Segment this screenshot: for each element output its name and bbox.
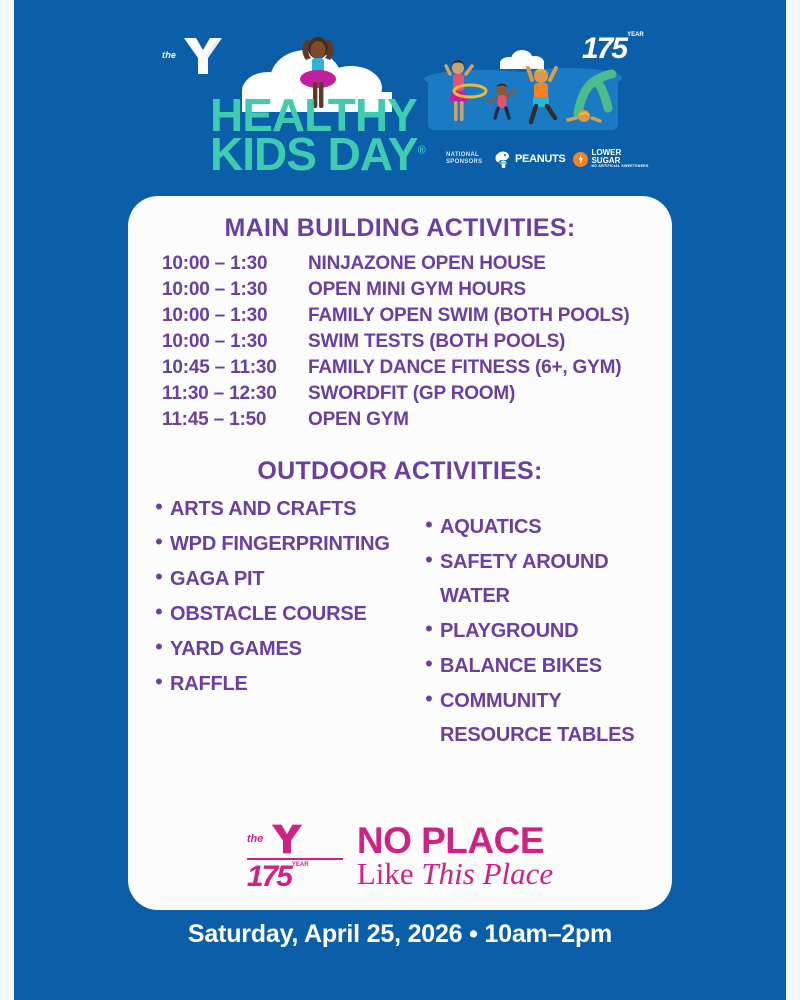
no-place-like-this-place-lockup: the 175YEAR NO PLACE Like This Place xyxy=(128,822,672,892)
bullet-icon: • xyxy=(148,492,170,526)
national-sponsors: NATIONAL SPONSORS PEANUTS LOWER SUGAR NO… xyxy=(446,146,656,172)
handstand-kid xyxy=(568,74,612,122)
schedule-activity: FAMILY DANCE FITNESS (6+, GYM) xyxy=(308,357,621,379)
schedule-time: 10:45 – 11:30 xyxy=(148,357,308,379)
ymca-175-logo: the 175YEAR xyxy=(247,822,343,892)
list-item-label: PLAYGROUND xyxy=(440,614,578,648)
bullet-icon: • xyxy=(418,614,440,648)
main-building-schedule: 10:00 – 1:30 NINJAZONE OPEN HOUSE 10:00 … xyxy=(148,253,652,431)
footer-the-label: the xyxy=(247,833,264,845)
main-building-title: MAIN BUILDING ACTIVITIES: xyxy=(148,214,652,243)
list-item: • SAFETY AROUND WATER xyxy=(418,545,652,613)
schedule-time: 10:00 – 1:30 xyxy=(148,331,308,353)
list-item-label: SAFETY AROUND WATER xyxy=(440,545,652,613)
list-item-label: GAGA PIT xyxy=(170,562,264,596)
activities-card: MAIN BUILDING ACTIVITIES: 10:00 – 1:30 N… xyxy=(128,196,672,910)
schedule-activity: OPEN MINI GYM HOURS xyxy=(308,279,526,301)
list-item-label: RAFFLE xyxy=(170,667,248,701)
footer-anniversary-year: YEAR xyxy=(292,862,309,868)
bullet-icon: • xyxy=(148,527,170,561)
ymca-logo-the-label: the xyxy=(162,50,176,60)
list-item: • WPD FINGERPRINTING xyxy=(148,527,400,561)
schedule-activity: OPEN GYM xyxy=(308,409,409,431)
schedule-row: 11:30 – 12:30 SWORDFIT (GP ROOM) xyxy=(148,383,652,405)
schedule-activity: NINJAZONE OPEN HOUSE xyxy=(308,253,546,275)
list-item: • GAGA PIT xyxy=(148,562,400,596)
list-item: • PLAYGROUND xyxy=(418,614,652,648)
snoopy-icon xyxy=(494,149,512,169)
schedule-time: 10:00 – 1:30 xyxy=(148,305,308,327)
list-item: • OBSTACLE COURSE xyxy=(148,597,400,631)
tagline-line-1: NO PLACE xyxy=(357,823,553,858)
bullet-icon: • xyxy=(148,562,170,596)
anniversary-175-logo: 175YEAR xyxy=(582,32,666,68)
schedule-row: 10:00 – 1:30 FAMILY OPEN SWIM (BOTH POOL… xyxy=(148,305,652,327)
schedule-row: 10:00 – 1:30 NINJAZONE OPEN HOUSE xyxy=(148,253,652,275)
poster-header: the HEALTHY KIDS DAY® xyxy=(14,0,786,196)
list-item-label: COMMUNITY RESOURCE TABLES xyxy=(440,684,652,752)
schedule-row: 10:45 – 11:30 FAMILY DANCE FITNESS (6+, … xyxy=(148,357,652,379)
bullet-icon: • xyxy=(148,632,170,666)
sponsor-gatorade: LOWER SUGAR NO ARTIFICIAL SWEETENERS xyxy=(573,149,648,169)
list-item-label: OBSTACLE COURSE xyxy=(170,597,367,631)
outdoor-right-column: • AQUATICS • SAFETY AROUND WATER • PLAYG… xyxy=(400,492,652,753)
tagline-line-2-italic: This Place xyxy=(421,856,553,891)
event-date-time: Saturday, April 25, 2026 • 10am–2pm xyxy=(14,920,786,949)
gatorade-line-3: NO ARTIFICIAL SWEETENERS xyxy=(591,165,648,169)
gatorade-lower-sugar-text: LOWER SUGAR NO ARTIFICIAL SWEETENERS xyxy=(591,149,648,169)
schedule-row: 10:00 – 1:30 OPEN MINI GYM HOURS xyxy=(148,279,652,301)
sponsor-peanuts: PEANUTS xyxy=(494,149,565,169)
list-item: • RAFFLE xyxy=(148,667,400,701)
gatorade-bolt-icon xyxy=(573,152,588,167)
outdoor-activities-title: OUTDOOR ACTIVITIES: xyxy=(148,457,652,486)
schedule-activity: FAMILY OPEN SWIM (BOTH POOLS) xyxy=(308,305,629,327)
list-item: • AQUATICS xyxy=(418,510,652,544)
schedule-row: 10:00 – 1:30 SWIM TESTS (BOTH POOLS) xyxy=(148,331,652,353)
footer-anniversary-number: 175 xyxy=(247,860,291,893)
peanuts-wordmark: PEANUTS xyxy=(515,153,565,165)
list-item-label: ARTS AND CRAFTS xyxy=(170,492,356,526)
registered-mark: ® xyxy=(418,144,425,156)
outdoor-activities-lists: • ARTS AND CRAFTS • WPD FINGERPRINTING •… xyxy=(148,492,652,753)
wordmark-line-2: KIDS DAY xyxy=(210,128,418,180)
schedule-time: 11:30 – 12:30 xyxy=(148,383,308,405)
list-item: • YARD GAMES xyxy=(148,632,400,666)
list-item-label: BALANCE BIKES xyxy=(440,649,602,683)
jumping-kid-small xyxy=(488,84,515,119)
anniversary-year-label: YEAR xyxy=(627,32,644,38)
hula-hoop-girl xyxy=(446,60,486,121)
bullet-icon: • xyxy=(418,649,440,683)
jumping-kid-large xyxy=(528,68,556,122)
schedule-time: 11:45 – 1:50 xyxy=(148,409,308,431)
bullet-icon: • xyxy=(148,597,170,631)
list-item: • BALANCE BIKES xyxy=(418,649,652,683)
schedule-row: 11:45 – 1:50 OPEN GYM xyxy=(148,409,652,431)
schedule-time: 10:00 – 1:30 xyxy=(148,279,308,301)
tagline-line-2-plain: Like xyxy=(357,856,422,891)
bullet-icon: • xyxy=(418,510,440,544)
bullet-icon: • xyxy=(418,545,440,613)
schedule-time: 10:00 – 1:30 xyxy=(148,253,308,275)
poster-canvas: the HEALTHY KIDS DAY® xyxy=(14,0,786,1000)
healthy-kids-day-lockup: HEALTHY KIDS DAY® xyxy=(210,24,440,184)
list-item-label: AQUATICS xyxy=(440,510,541,544)
schedule-activity: SWIM TESTS (BOTH POOLS) xyxy=(308,331,565,353)
tagline: NO PLACE Like This Place xyxy=(357,823,553,891)
list-item: • COMMUNITY RESOURCE TABLES xyxy=(418,684,652,752)
anniversary-number: 175 xyxy=(582,32,626,65)
bullet-icon: • xyxy=(418,684,440,752)
national-sponsors-label: NATIONAL SPONSORS xyxy=(446,152,486,166)
y-mark-icon xyxy=(267,823,307,855)
list-item-label: YARD GAMES xyxy=(170,632,302,666)
outdoor-left-column: • ARTS AND CRAFTS • WPD FINGERPRINTING •… xyxy=(148,492,400,753)
schedule-activity: SWORDFIT (GP ROOM) xyxy=(308,383,515,405)
bullet-icon: • xyxy=(148,667,170,701)
list-item-label: WPD FINGERPRINTING xyxy=(170,527,390,561)
list-item: • ARTS AND CRAFTS xyxy=(148,492,400,526)
healthy-kids-day-wordmark: HEALTHY KIDS DAY® xyxy=(210,96,440,173)
